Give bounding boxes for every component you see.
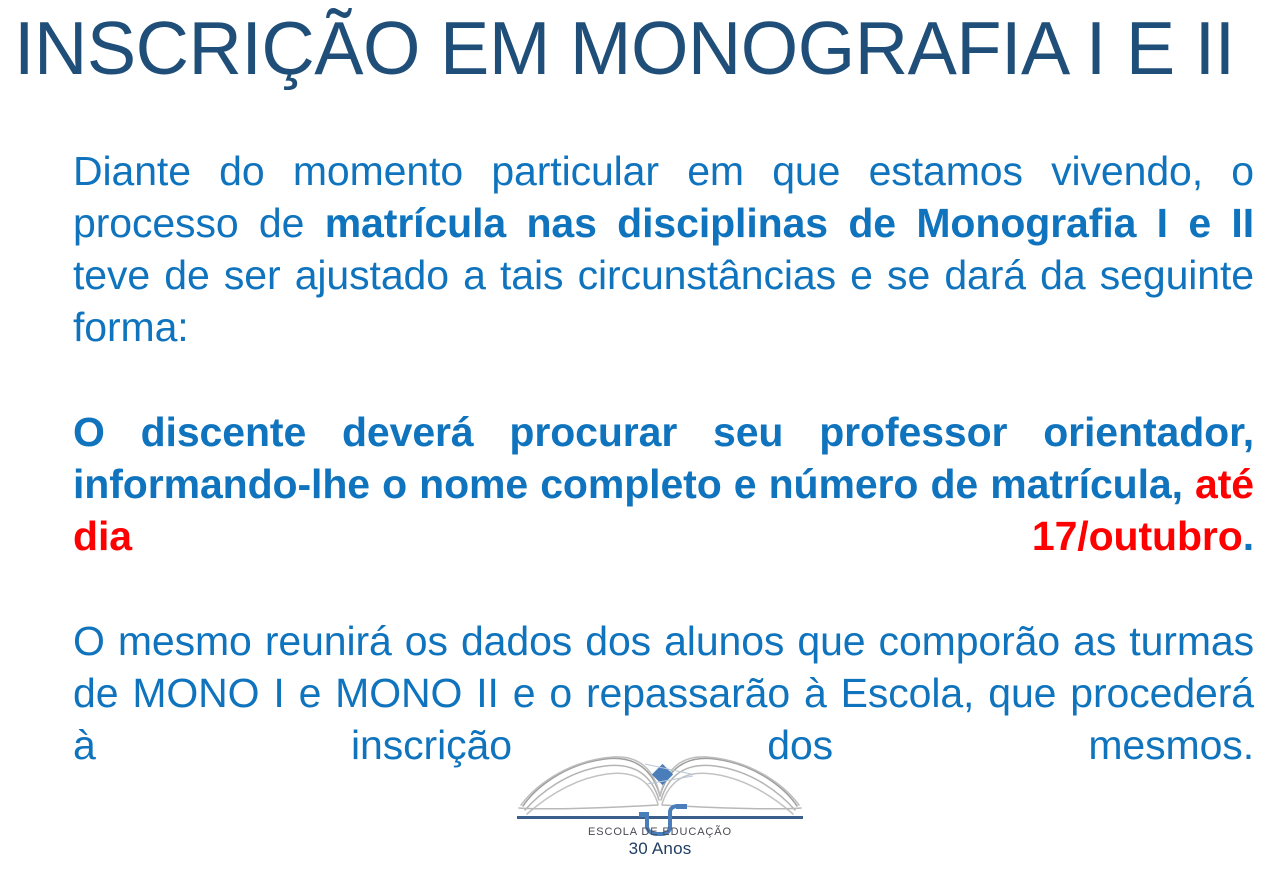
paragraph-instruction-run1-bold: O discente deverá procurar seu professor…: [73, 409, 1254, 507]
logo-caption-line2: 30 Anos: [495, 839, 825, 858]
slide-canvas: INSCRIÇÃO EM MONOGRAFIA I E II Diante do…: [0, 0, 1287, 869]
page-title: INSCRIÇÃO EM MONOGRAFIA I E II: [14, 6, 1254, 90]
base-bar: [517, 816, 803, 819]
paragraph-instruction-period: .: [1243, 513, 1254, 559]
paragraph-instruction: O discente deverá procurar seu professor…: [73, 406, 1254, 614]
paragraph-intro-run3: teve de ser ajustado a tais circunstânci…: [73, 252, 1254, 350]
paragraph-outcome-run1: O mesmo reunirá os dados dos alunos que …: [73, 618, 1254, 768]
logo-caption: ESCOLA DE EDUCAÇÃO 30 Anos: [495, 826, 825, 858]
body-content: Diante do momento particular em que esta…: [73, 145, 1254, 823]
logo-caption-line1: ESCOLA DE EDUCAÇÃO: [495, 826, 825, 839]
open-book-icon: [495, 748, 825, 838]
escola-de-educacao-logo: ESCOLA DE EDUCAÇÃO 30 Anos: [495, 748, 825, 866]
paragraph-intro-run2-bold: matrícula nas disciplinas de Monografia …: [325, 200, 1254, 246]
paragraph-intro: Diante do momento particular em que esta…: [73, 145, 1254, 405]
